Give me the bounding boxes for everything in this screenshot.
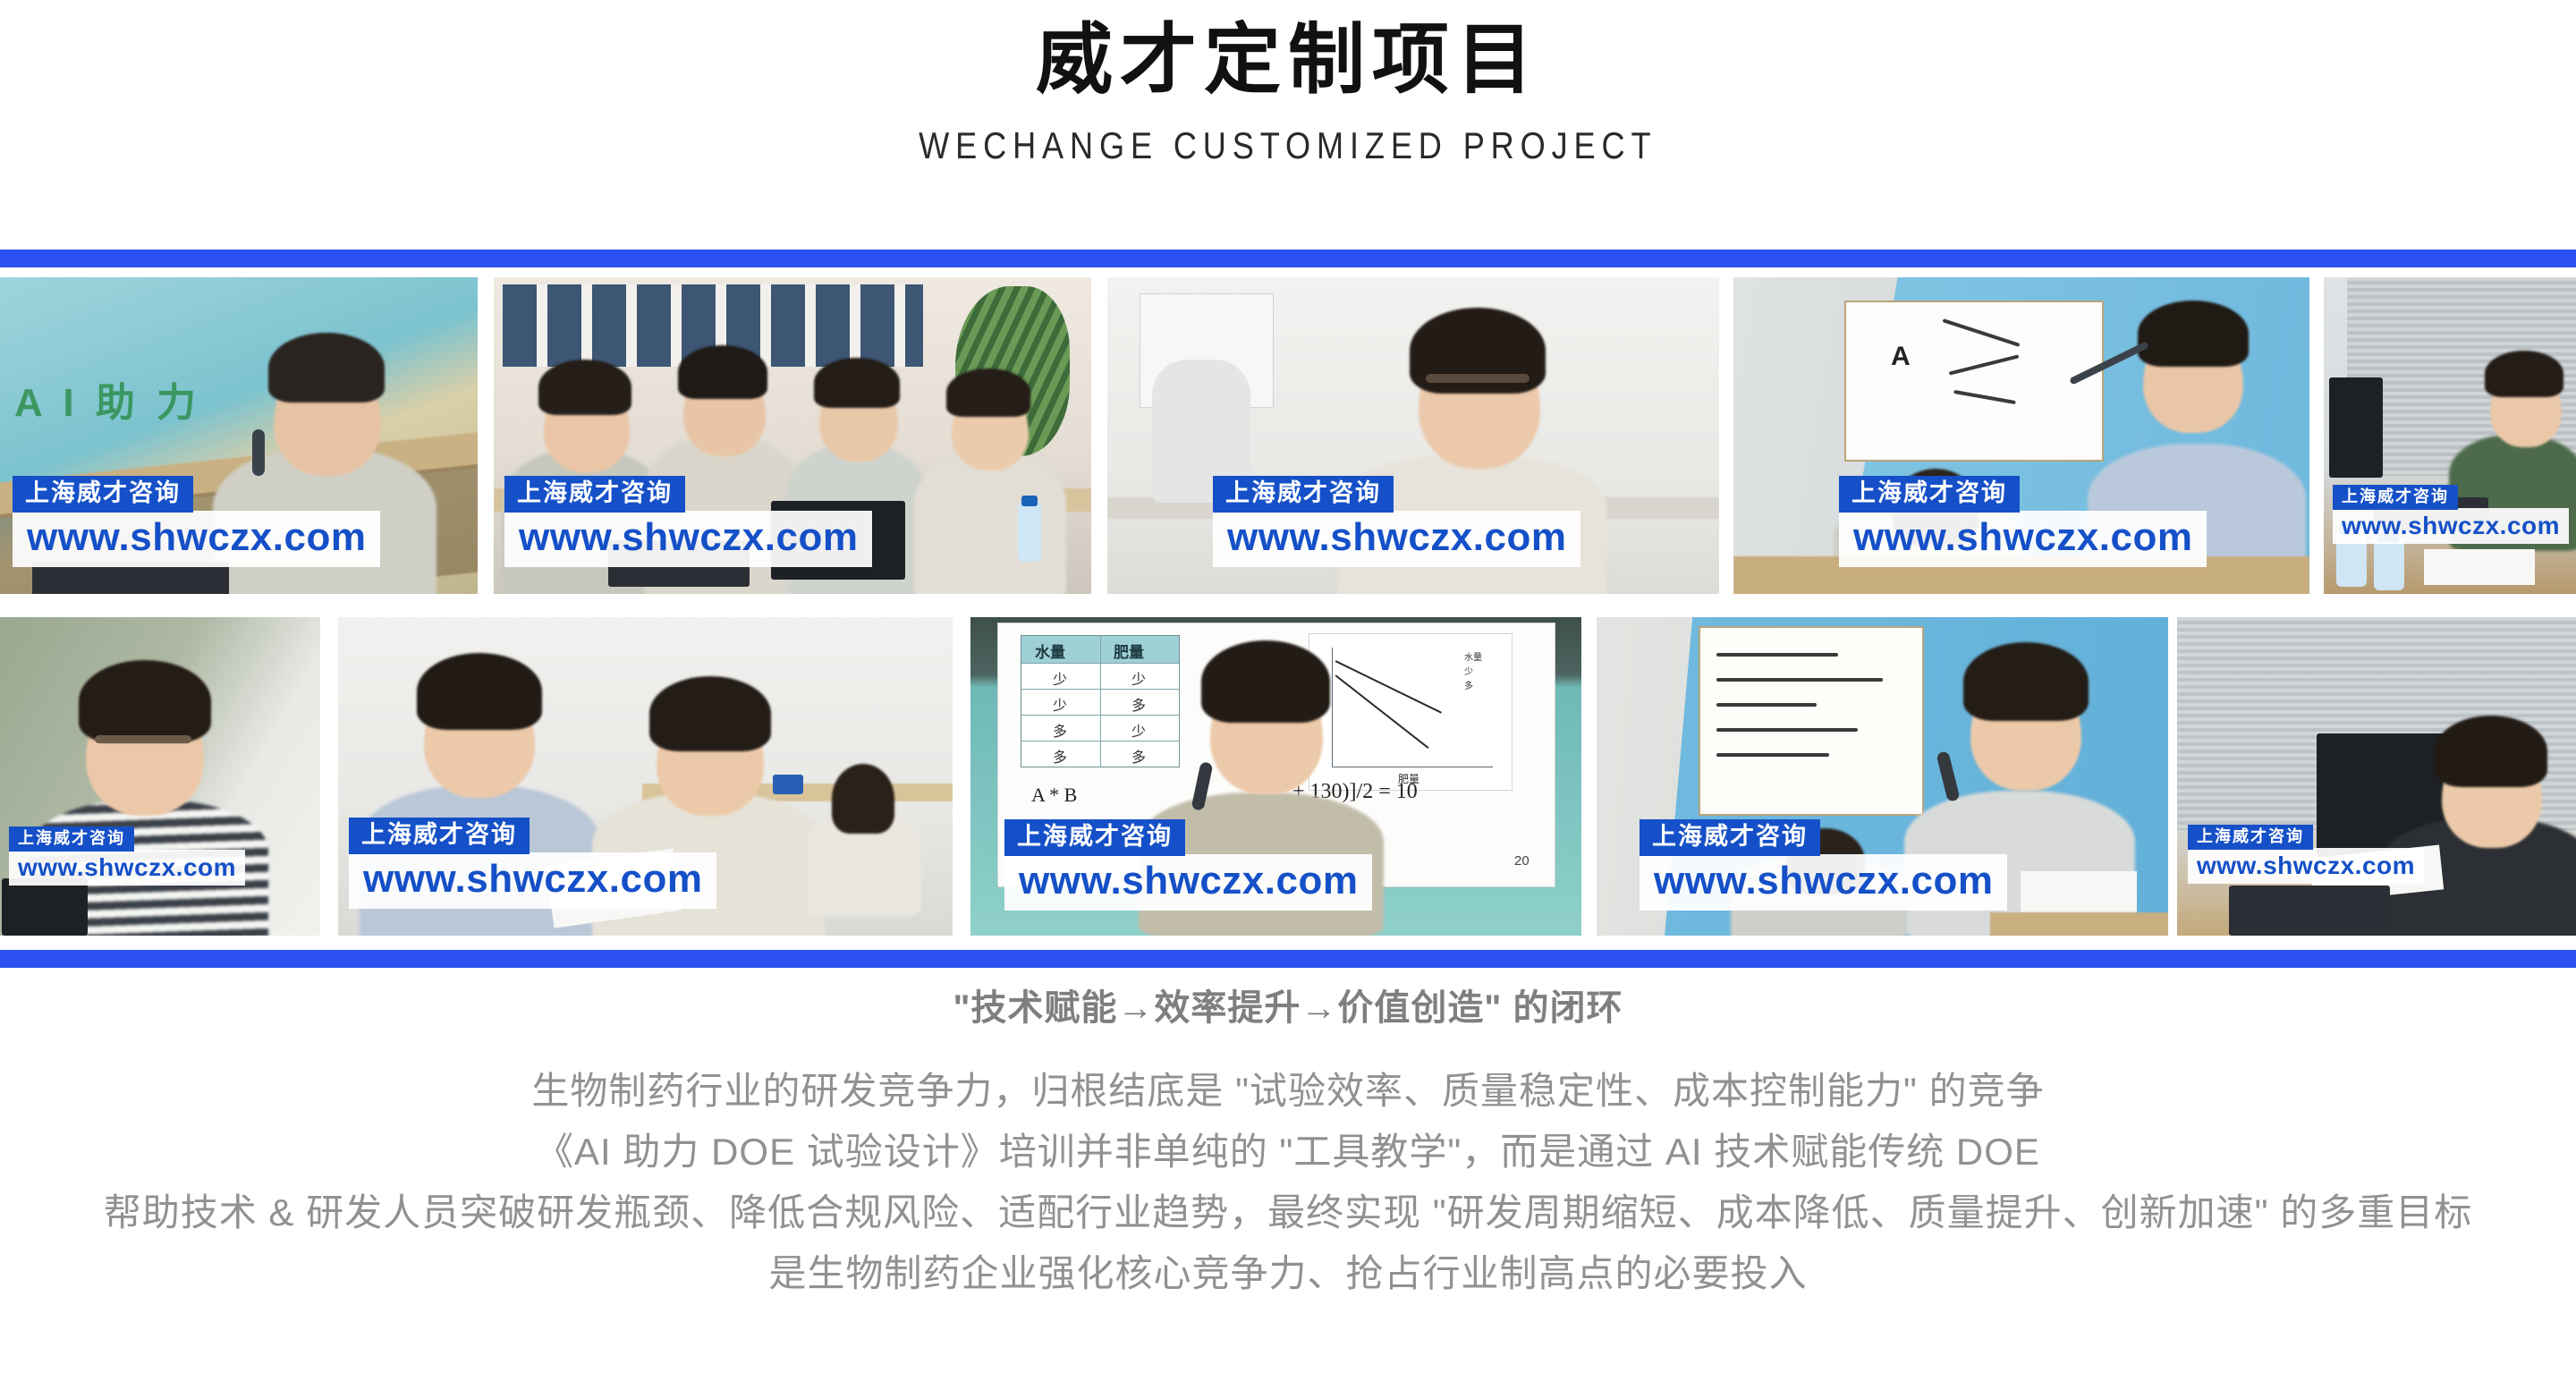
watermark-badge: 上海威才咨询 [2188, 825, 2313, 850]
watermark-url: www.shwczx.com [349, 852, 716, 909]
watermark-badge: 上海威才咨询 [1839, 476, 2020, 513]
gallery-photo-1-5[interactable]: 上海威才咨询 www.shwczx.com [2324, 277, 2576, 594]
watermark-badge: 上海威才咨询 [1004, 819, 1185, 856]
photo-row-1: A I 助 力 上海威才咨询 www.shwczx.com [0, 277, 2576, 594]
gallery-photo-1-4[interactable]: A 上海威才咨询 www.shwczx.com [1733, 277, 2309, 594]
plot-legend-1: 少 [1464, 664, 1473, 677]
watermark-url: www.shwczx.com [1640, 854, 2007, 911]
footer-line-2: 《AI 助力 DOE 试验设计》培训并非单纯的 "工具教学"，而是通过 AI 技… [0, 1122, 2576, 1182]
watermark-url: www.shwczx.com [13, 511, 380, 567]
page-subtitle: WECHANGE CUSTOMIZED PROJECT [919, 124, 1657, 167]
footer-line-4: 是生物制药企业强化核心竞争力、抢占行业制高点的必要投入 [0, 1243, 2576, 1304]
watermark-2-2: 上海威才咨询 www.shwczx.com [349, 818, 716, 909]
page-header: 威才定制项目 WECHANGE CUSTOMIZED PROJECT [0, 0, 2576, 242]
watermark-2-4: 上海威才咨询 www.shwczx.com [1640, 819, 2007, 911]
watermark-badge: 上海威才咨询 [9, 826, 134, 852]
watermark-badge: 上海威才咨询 [13, 476, 193, 513]
gallery-photo-2-2[interactable]: 上海威才咨询 www.shwczx.com [338, 617, 953, 936]
gallery-photo-2-1[interactable]: 上海威才咨询 www.shwczx.com [0, 617, 320, 936]
gallery-photo-2-5[interactable]: 上海威才咨询 www.shwczx.com [2177, 617, 2576, 936]
page-title: 威才定制项目 [1036, 16, 1540, 105]
slide-page-number: 20 [1514, 853, 1529, 869]
watermark-url: www.shwczx.com [2188, 848, 2424, 885]
footer-line-1: 生物制药行业的研发竞争力，归根结底是 "试验效率、质量稳定性、成本控制能力" 的… [0, 1061, 2576, 1122]
gallery-photo-2-4[interactable]: 上海威才咨询 www.shwczx.com [1597, 617, 2168, 936]
watermark-url: www.shwczx.com [504, 511, 872, 567]
watermark-badge: 上海威才咨询 [1640, 819, 1820, 856]
poster-page: 威才定制项目 WECHANGE CUSTOMIZED PROJECT A I 助… [0, 0, 2576, 1373]
watermark-url: www.shwczx.com [1004, 854, 1372, 911]
watermark-url: www.shwczx.com [1213, 511, 1580, 567]
divider-top [0, 250, 2576, 267]
watermark-1-4: 上海威才咨询 www.shwczx.com [1839, 476, 2207, 567]
watermark-url: www.shwczx.com [2333, 508, 2569, 545]
gallery-photo-1-1[interactable]: A I 助 力 上海威才咨询 www.shwczx.com [0, 277, 478, 594]
watermark-url: www.shwczx.com [1839, 511, 2207, 567]
gallery-photo-2-3[interactable]: 水量 肥量 少 少 少 多 多 少 多 多 水量 少 多 肥量 A * B + … [970, 617, 1581, 936]
watermark-1-1: 上海威才咨询 www.shwczx.com [13, 476, 380, 567]
watermark-1-2: 上海威才咨询 www.shwczx.com [504, 476, 872, 567]
watermark-url: www.shwczx.com [9, 850, 245, 886]
slide-table-header-1: 水量 [1035, 640, 1065, 662]
slide-table-header-2: 肥量 [1114, 640, 1144, 662]
footer-text-block: "技术赋能→效率提升→价值创造" 的闭环 生物制药行业的研发竞争力，归根结底是 … [0, 979, 2576, 1304]
watermark-2-1: 上海威才咨询 www.shwczx.com [9, 826, 245, 886]
watermark-2-5: 上海威才咨询 www.shwczx.com [2188, 825, 2424, 884]
watermark-1-3: 上海威才咨询 www.shwczx.com [1213, 476, 1580, 567]
watermark-badge: 上海威才咨询 [504, 476, 685, 513]
divider-bottom [0, 950, 2576, 968]
slide-formula-left: A * B [1031, 784, 1077, 807]
gallery-photo-1-2[interactable]: 上海威才咨询 www.shwczx.com [494, 277, 1091, 594]
plot-legend-2: 多 [1464, 678, 1473, 691]
watermark-2-3: 上海威才咨询 www.shwczx.com [1004, 819, 1372, 911]
watermark-1-5: 上海威才咨询 www.shwczx.com [2333, 485, 2569, 544]
watermark-badge: 上海威才咨询 [1213, 476, 1394, 513]
watermark-badge: 上海威才咨询 [2333, 485, 2458, 510]
plot-legend-0: 水量 [1464, 649, 1482, 663]
footer-lead: "技术赋能→效率提升→价值创造" 的闭环 [0, 979, 2576, 1038]
footer-line-3: 帮助技术 & 研发人员突破研发瓶颈、降低合规风险、适配行业趋势，最终实现 "研发… [0, 1182, 2576, 1243]
watermark-badge: 上海威才咨询 [349, 818, 530, 854]
photo-row-2: 上海威才咨询 www.shwczx.com 上海威才咨询 www.shwczx.… [0, 617, 2576, 936]
gallery-photo-1-3[interactable]: 上海威才咨询 www.shwczx.com [1107, 277, 1719, 594]
